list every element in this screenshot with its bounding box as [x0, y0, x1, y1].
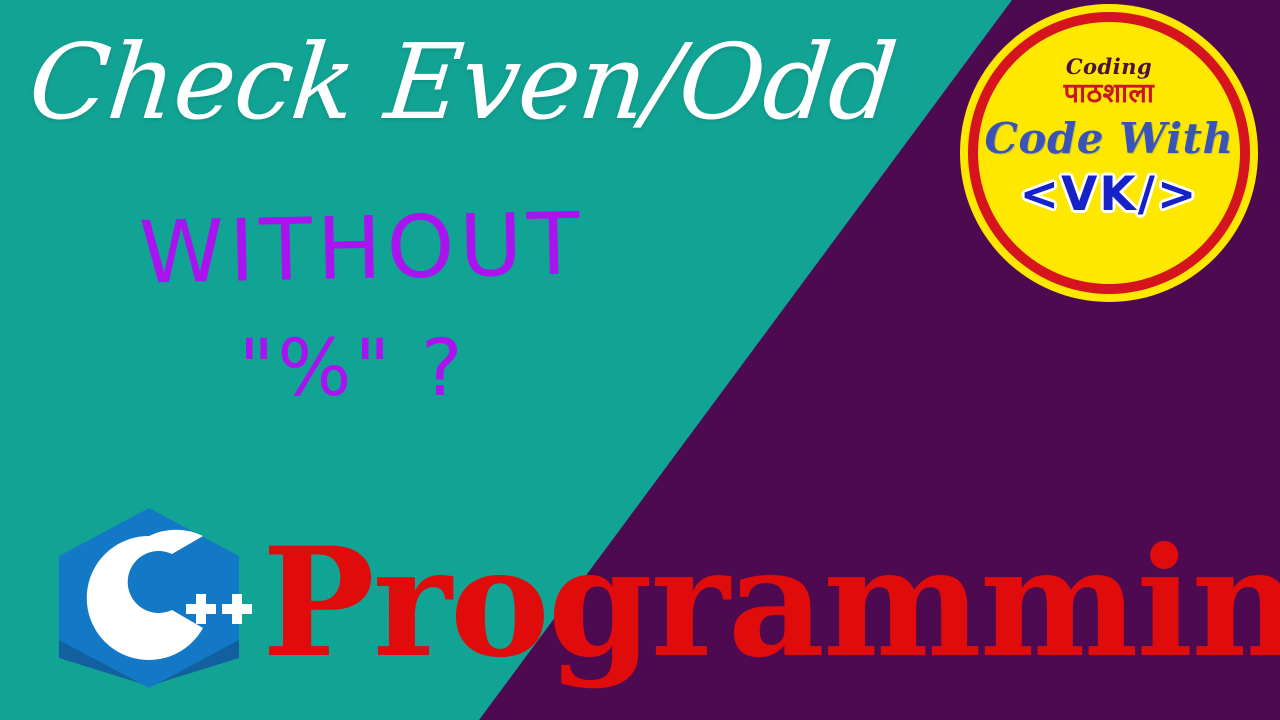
subtitle-without: WITHOUT — [71, 200, 653, 298]
thumbnail-canvas: Check Even/Odd WITHOUT "%" ? Programming — [0, 0, 1280, 720]
programming-word: Programming — [262, 528, 1280, 678]
logo-pathshala-text: पाठशाला — [1064, 78, 1155, 109]
logo-coding-text: Coding — [1066, 56, 1152, 77]
subtitle-percent-question: "%" ? — [72, 330, 632, 408]
page-title: Check Even/Odd — [23, 20, 936, 145]
channel-logo-badge[interactable]: Coding पाठशाला Code With <VK/> — [978, 22, 1240, 284]
logo-vk-handle: <VK/> — [1020, 171, 1199, 218]
cpp-logo-icon — [40, 500, 258, 692]
bottom-row: Programming — [40, 500, 1280, 692]
logo-code-with-text: Code With — [985, 118, 1234, 160]
